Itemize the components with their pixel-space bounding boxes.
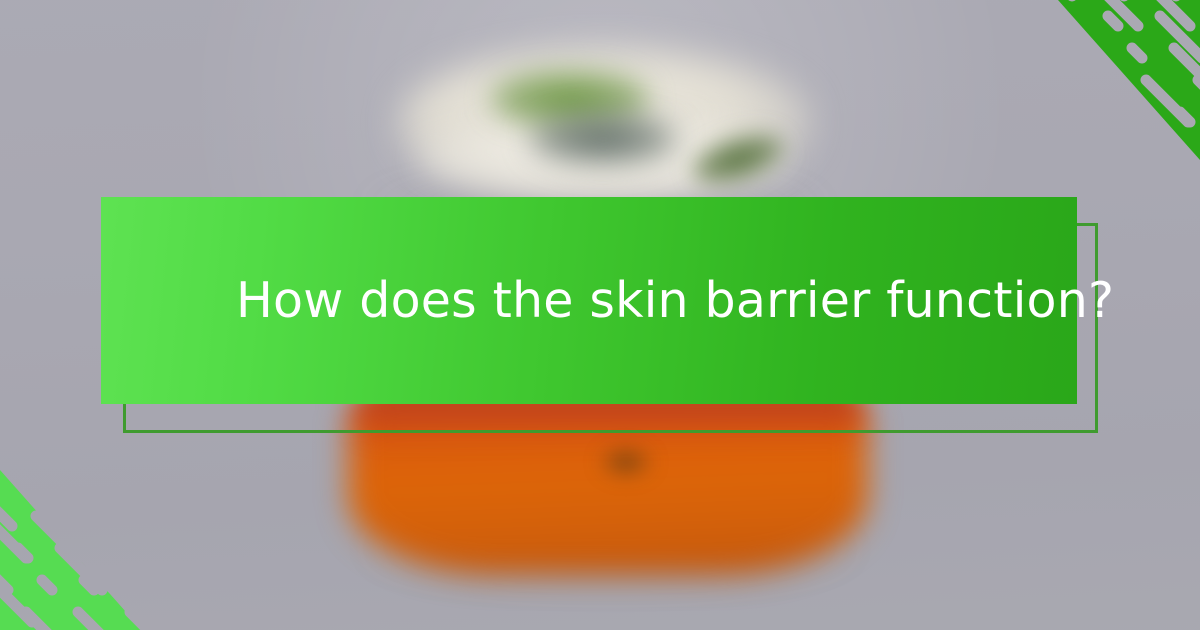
jar-label-text — [528, 112, 678, 166]
page-title: How does the skin barrier function? — [101, 274, 1150, 328]
dashed-corner-top-right — [1050, 0, 1200, 160]
orange-soap-speck — [598, 445, 654, 479]
question-banner: How does the skin barrier function? — [101, 197, 1077, 404]
dashed-corner-bottom-left — [0, 470, 150, 630]
corner-fill-top-right — [1050, 0, 1200, 160]
social-card: How does the skin barrier function? — [0, 0, 1200, 630]
corner-fill-bottom-left — [0, 470, 150, 630]
